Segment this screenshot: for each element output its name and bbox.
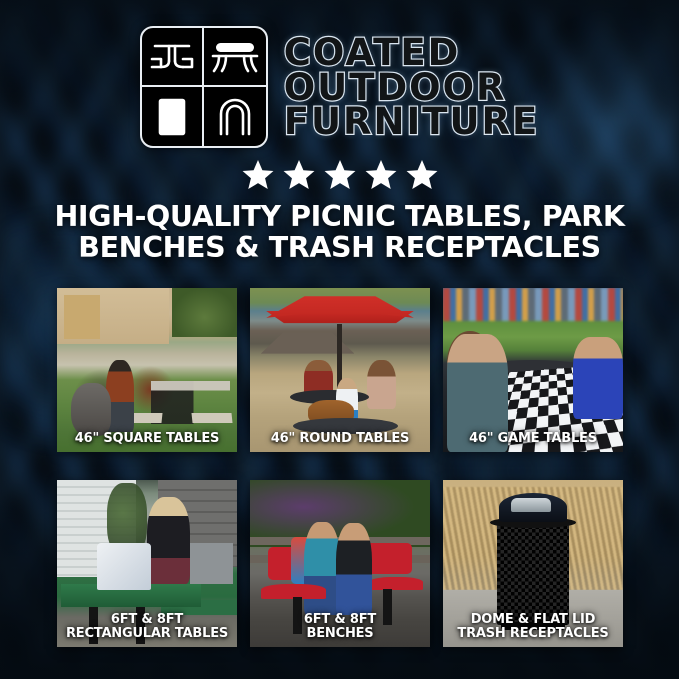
tile-caption-line-1: 6FT & 8FT (111, 612, 183, 627)
product-tile-grid: 46" SQUARE TABLES 46" ROUND TABLES 46" G… (57, 288, 623, 647)
trash-receptacle-icon (142, 87, 204, 146)
star-icon (324, 159, 356, 190)
product-photo (443, 288, 623, 452)
star-rating (0, 159, 679, 190)
star-icon (406, 159, 438, 190)
tile-caption: DOME & FLAT LID TRASH RECEPTACLES (443, 613, 623, 641)
headline-line-2: BENCHES & TRASH RECEPTACLES (24, 233, 655, 264)
product-tile-trash-receptacles[interactable]: DOME & FLAT LID TRASH RECEPTACLES (443, 480, 623, 647)
tile-caption: 6FT & 8FT BENCHES (250, 613, 430, 641)
tile-caption-line-2: BENCHES (253, 627, 427, 641)
tile-caption-line-1: 46" SQUARE TABLES (75, 431, 219, 446)
star-icon (283, 159, 315, 190)
star-icon (242, 159, 274, 190)
product-tile-game-tables[interactable]: 46" GAME TABLES (443, 288, 623, 452)
logo-icon-grid (140, 26, 268, 148)
tile-caption: 46" ROUND TABLES (250, 432, 430, 446)
brand-logo: COATED OUTDOOR FURNITURE (0, 26, 679, 148)
tile-caption: 6FT & 8FT RECTANGULAR TABLES (57, 613, 237, 641)
bench-icon (204, 28, 266, 87)
brand-line-3: FURNITURE (284, 105, 540, 140)
picnic-table-icon (142, 28, 204, 87)
headline-line-1: HIGH-QUALITY PICNIC TABLES, PARK (24, 202, 655, 233)
tile-caption-line-2: TRASH RECEPTACLES (446, 627, 620, 641)
product-photo (57, 288, 237, 452)
advertisement-banner: COATED OUTDOOR FURNITURE HIGH-QUALITY PI… (0, 0, 679, 679)
tile-caption: 46" GAME TABLES (443, 432, 623, 446)
product-tile-square-tables[interactable]: 46" SQUARE TABLES (57, 288, 237, 452)
product-tile-rectangular-tables[interactable]: 6FT & 8FT RECTANGULAR TABLES (57, 480, 237, 647)
tile-caption-line-1: DOME & FLAT LID (471, 612, 596, 627)
bike-rack-icon (204, 87, 266, 146)
headline: HIGH-QUALITY PICNIC TABLES, PARK BENCHES… (24, 202, 655, 264)
brand-name: COATED OUTDOOR FURNITURE (284, 34, 540, 140)
tile-caption: 46" SQUARE TABLES (57, 432, 237, 446)
tile-caption-line-1: 6FT & 8FT (304, 612, 376, 627)
star-icon (365, 159, 397, 190)
product-tile-round-tables[interactable]: 46" ROUND TABLES (250, 288, 430, 452)
tile-caption-line-1: 46" ROUND TABLES (271, 431, 409, 446)
tile-caption-line-2: RECTANGULAR TABLES (60, 627, 234, 641)
tile-caption-line-1: 46" GAME TABLES (469, 431, 597, 446)
product-photo (250, 288, 430, 452)
product-tile-benches[interactable]: 6FT & 8FT BENCHES (250, 480, 430, 647)
